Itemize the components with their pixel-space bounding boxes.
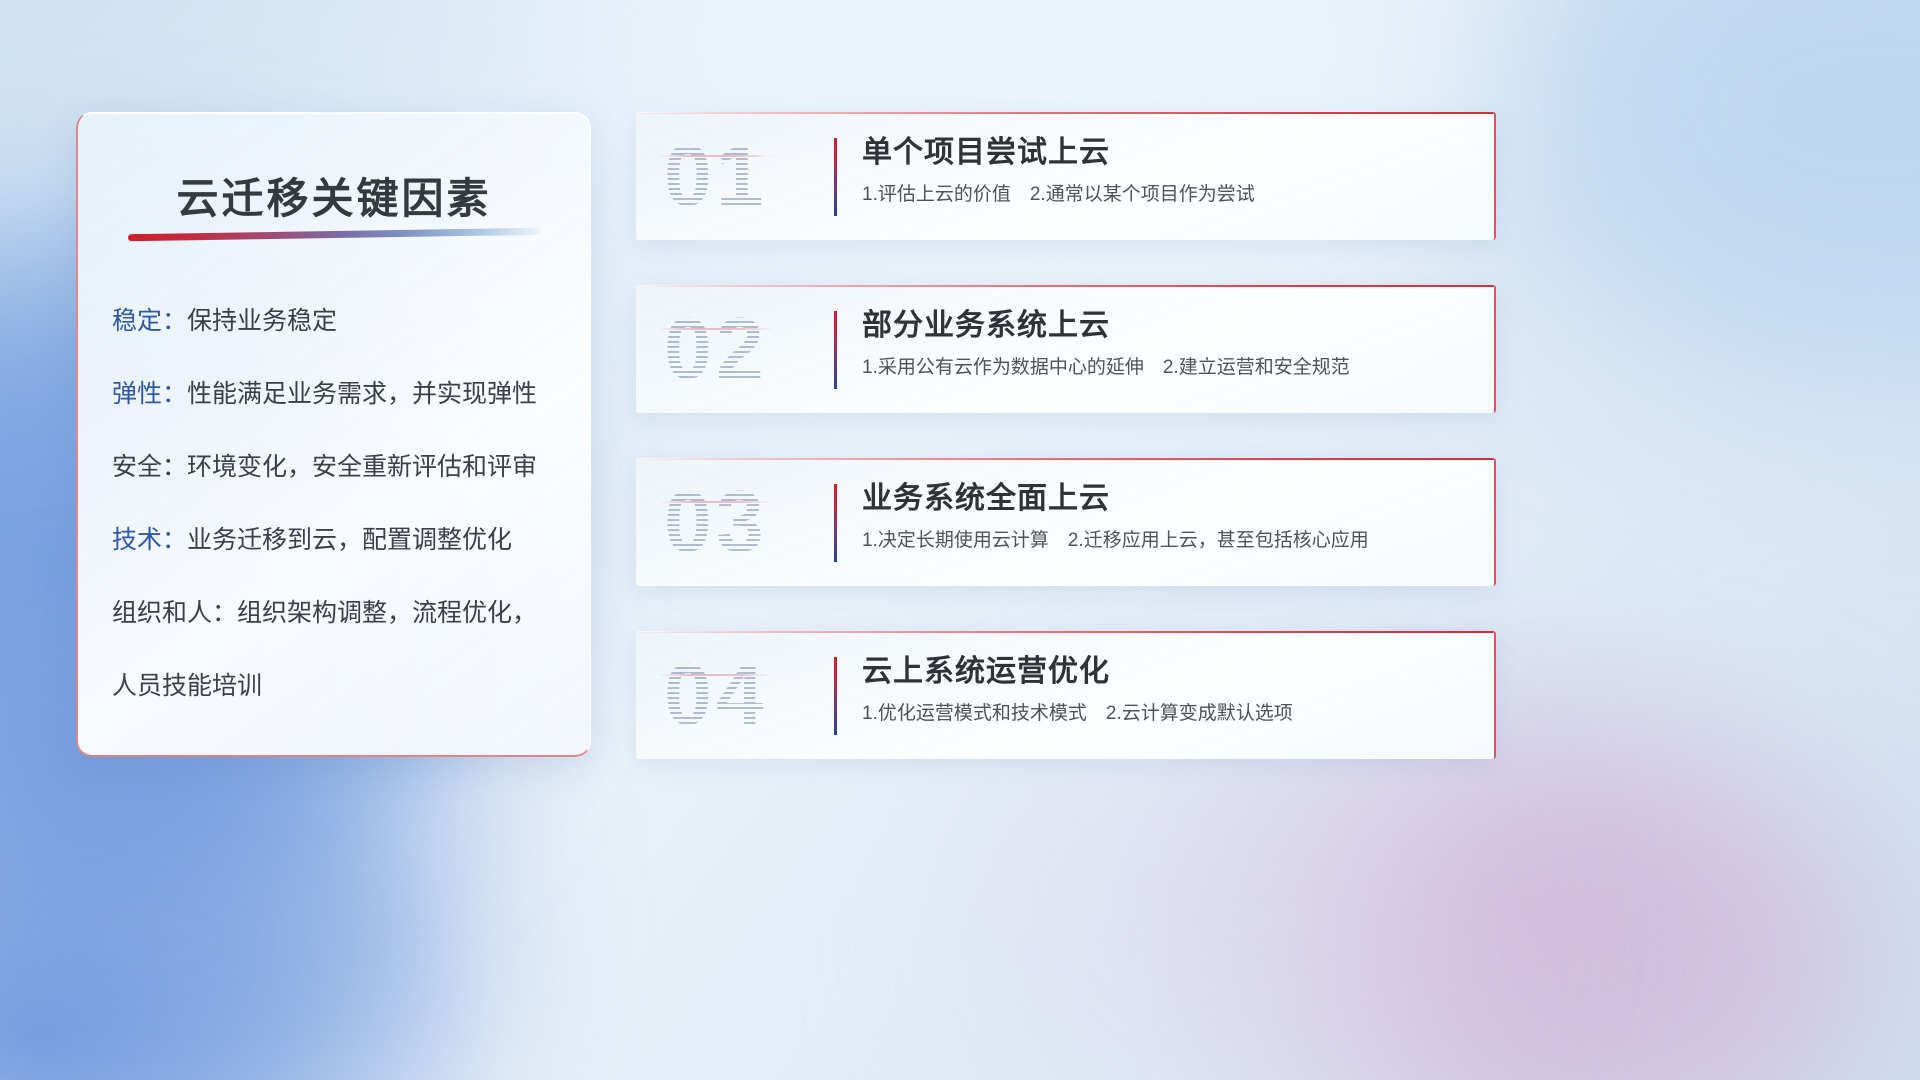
- key-factor-label: 安全：: [112, 453, 187, 481]
- card-top-accent-line: [636, 285, 1494, 287]
- background-glow-left-lower: [0, 700, 460, 1080]
- title-underline-gradient: [128, 228, 540, 241]
- migration-stage-card-list: 01单个项目尝试上云1.评估上云的价值 2.通常以某个项目作为尝试02部分业务系…: [636, 112, 1496, 759]
- key-factor-text: 组织架构调整，流程优化，: [237, 599, 537, 627]
- migration-stage-card[interactable]: 04云上系统运营优化1.优化运营模式和技术模式 2.云计算变成默认选项: [636, 631, 1496, 759]
- card-description: 1.评估上云的价值 2.通常以某个项目作为尝试: [862, 185, 1474, 206]
- card-description: 1.采用公有云作为数据中心的延伸 2.建立运营和安全规范: [862, 358, 1474, 379]
- key-factors-list: 稳定：保持业务稳定弹性：性能满足业务需求，并实现弹性安全：环境变化，安全重新评估…: [112, 309, 572, 699]
- background-glow-bottom-center: [980, 720, 1500, 1080]
- migration-stage-card[interactable]: 02部分业务系统上云1.采用公有云作为数据中心的延伸 2.建立运营和安全规范: [636, 285, 1496, 413]
- key-factors-panel: 云迁移关键因素 稳定：保持业务稳定弹性：性能满足业务需求，并实现弹性安全：环境变…: [76, 112, 591, 757]
- page-title: 云迁移关键因素: [78, 165, 590, 226]
- migration-stage-card[interactable]: 03业务系统全面上云1.决定长期使用云计算 2.迁移应用上云，甚至包括核心应用: [636, 458, 1496, 586]
- key-factor-line: 技术：业务迁移到云，配置调整优化: [112, 528, 572, 553]
- key-factor-text: 保持业务稳定: [187, 307, 337, 335]
- card-top-accent-line: [636, 112, 1494, 114]
- card-description: 1.优化运营模式和技术模式 2.云计算变成默认选项: [862, 704, 1474, 725]
- key-factor-line: 弹性：性能满足业务需求，并实现弹性: [112, 382, 572, 407]
- card-title: 部分业务系统上云: [862, 309, 1474, 342]
- key-factor-label: 技术：: [112, 526, 187, 554]
- key-factor-text: 性能满足业务需求，并实现弹性: [187, 380, 537, 408]
- key-factor-text: 环境变化，安全重新评估和评审: [187, 453, 537, 481]
- card-divider-bar: [834, 484, 837, 562]
- card-top-accent-line: [636, 631, 1494, 633]
- key-factor-line: 人员技能培训: [112, 674, 572, 699]
- card-text-block: 部分业务系统上云1.采用公有云作为数据中心的延伸 2.建立运营和安全规范: [862, 309, 1474, 379]
- background-glow-right-lower: [1320, 760, 1880, 1080]
- stage-number-watermark: 03: [664, 479, 768, 565]
- card-title: 业务系统全面上云: [862, 482, 1474, 515]
- stage-number-watermark: 02: [664, 306, 768, 392]
- card-text-block: 业务系统全面上云1.决定长期使用云计算 2.迁移应用上云，甚至包括核心应用: [862, 482, 1474, 552]
- slide-canvas: 云迁移关键因素 稳定：保持业务稳定弹性：性能满足业务需求，并实现弹性安全：环境变…: [0, 0, 1920, 1080]
- card-title: 云上系统运营优化: [862, 655, 1474, 688]
- key-factor-text: 业务迁移到云，配置调整优化: [187, 526, 512, 554]
- card-divider-bar: [834, 311, 837, 389]
- migration-stage-card[interactable]: 01单个项目尝试上云1.评估上云的价值 2.通常以某个项目作为尝试: [636, 112, 1496, 240]
- stage-number-watermark: 04: [664, 652, 768, 738]
- card-description: 1.决定长期使用云计算 2.迁移应用上云，甚至包括核心应用: [862, 531, 1474, 552]
- card-divider-bar: [834, 138, 837, 216]
- key-factor-line: 组织和人：组织架构调整，流程优化，: [112, 601, 572, 626]
- key-factor-line: 安全：环境变化，安全重新评估和评审: [112, 455, 572, 480]
- key-factor-line: 稳定：保持业务稳定: [112, 309, 572, 334]
- background-glow-right-upper: [1500, 0, 1920, 390]
- card-top-accent-line: [636, 458, 1494, 460]
- card-title: 单个项目尝试上云: [862, 136, 1474, 169]
- card-text-block: 云上系统运营优化1.优化运营模式和技术模式 2.云计算变成默认选项: [862, 655, 1474, 725]
- key-factor-label: 稳定：: [112, 307, 187, 335]
- card-text-block: 单个项目尝试上云1.评估上云的价值 2.通常以某个项目作为尝试: [862, 136, 1474, 206]
- card-divider-bar: [834, 657, 837, 735]
- stage-number-watermark: 01: [664, 133, 768, 219]
- key-factor-label: 弹性：: [112, 380, 187, 408]
- key-factor-text: 人员技能培训: [112, 672, 262, 700]
- key-factor-label: 组织和人：: [112, 599, 237, 627]
